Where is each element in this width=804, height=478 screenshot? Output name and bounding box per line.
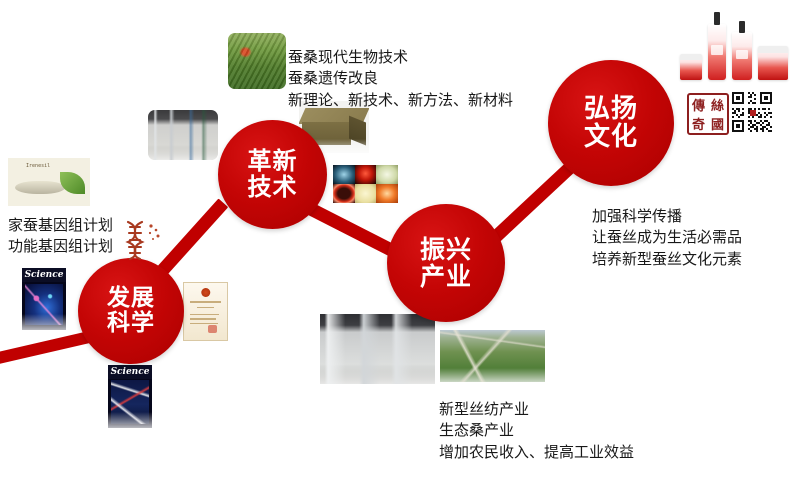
text-block-culture: 加强科学传播 让蚕丝成为生活必需品 培养新型蚕丝文化元素: [592, 206, 742, 270]
cosmetics-products-image: [678, 8, 794, 80]
seal-char-top-left: 傳: [689, 95, 708, 114]
node-revitalize-industry[interactable]: 振兴 产业: [387, 204, 505, 322]
dna-helix-icon: [120, 218, 164, 262]
brand-seal-icon: 傳 絲 奇 國: [687, 93, 729, 135]
node-promote-culture-line2: 文化: [584, 123, 638, 151]
lab-equipment-image: [148, 110, 218, 160]
cosmetic-bottle-label: [711, 45, 723, 55]
science-cover-2-image: Science: [108, 365, 152, 428]
cosmetic-jar-cap: [680, 54, 702, 60]
certificate-image: [183, 282, 228, 341]
microscopy-grid-image: [333, 165, 398, 203]
mulberry-leaf-shape: [60, 172, 85, 194]
silkworm-illustration-image: Irenesil: [8, 158, 90, 206]
cosmetic-bottle-cap: [739, 21, 745, 33]
microscopy-panel: [333, 165, 355, 184]
cosmetic-bottle-label: [736, 50, 749, 59]
science-cover-1-image: Science: [22, 268, 66, 330]
text-block-industry: 新型丝纺产业 生态桑产业 增加农民收入、提高工业效益: [439, 399, 634, 463]
aerial-landscape-reflection: [440, 368, 545, 382]
microscopy-panel: [355, 165, 377, 184]
text-block-science: 家蚕基因组计划 功能基因组计划: [8, 215, 113, 258]
cosmetic-jar-cap: [758, 46, 788, 53]
national-emblem-icon: [201, 288, 210, 298]
science-cover-2-title: Science: [108, 367, 152, 377]
science-cover-2-artwork: [111, 380, 150, 424]
cosmetic-jar-large: [758, 46, 788, 80]
silkworm-body-shape: [15, 181, 66, 193]
seal-char-bottom-right: 國: [708, 114, 727, 133]
cosmetic-bottle-tall: [708, 24, 726, 80]
node-develop-science-line1: 发展: [107, 286, 155, 311]
lab-equipment-reflection: [148, 147, 218, 160]
science-cover-1-title: Science: [22, 270, 66, 280]
seal-char-top-right: 絲: [708, 95, 727, 114]
node-innovate-tech-line2: 技术: [248, 175, 298, 201]
aerial-landscape-image: [440, 330, 545, 382]
node-revitalize-industry-line2: 产业: [420, 263, 472, 290]
microscopy-panel: [376, 165, 398, 184]
cosmetic-bottle-cap: [714, 12, 720, 25]
factory-machinery-reflection: [320, 366, 435, 384]
certificate-text-line: [197, 307, 214, 309]
microscopy-panel: [376, 184, 398, 203]
infographic-slide: Irenesil Science Science: [0, 0, 804, 478]
node-promote-culture-line1: 弘扬: [584, 95, 638, 123]
factory-machinery-image: [320, 314, 435, 384]
certificate-red-seal: [208, 325, 217, 334]
node-revitalize-industry-line1: 振兴: [420, 236, 472, 263]
cosmetic-bottle-mid: [732, 32, 752, 80]
cosmetic-jar-small: [680, 54, 702, 80]
node-innovate-tech-line1: 革新: [248, 149, 298, 175]
node-develop-science[interactable]: 发展 科学: [78, 258, 184, 364]
certificate-text-line: [190, 301, 221, 303]
node-innovate-tech[interactable]: 革新 技术: [218, 120, 327, 229]
qr-code-icon[interactable]: [730, 90, 774, 134]
microscopy-panel: [333, 184, 355, 203]
mulberry-field-image: [228, 33, 286, 89]
certificate-text-line: [190, 314, 219, 316]
certificate-text-line: [190, 318, 216, 320]
science-cover-1-artwork: [25, 284, 64, 325]
node-develop-science-line2: 科学: [107, 311, 155, 336]
seal-char-bottom-left: 奇: [689, 114, 708, 133]
node-promote-culture[interactable]: 弘扬 文化: [548, 60, 674, 186]
text-block-technology: 蚕桑现代生物技术 蚕桑遗传改良 新理论、新技术、新方法、新材料: [288, 47, 513, 111]
microscopy-panel: [355, 184, 377, 203]
silkworm-illustration-caption: Irenesil: [26, 163, 50, 169]
